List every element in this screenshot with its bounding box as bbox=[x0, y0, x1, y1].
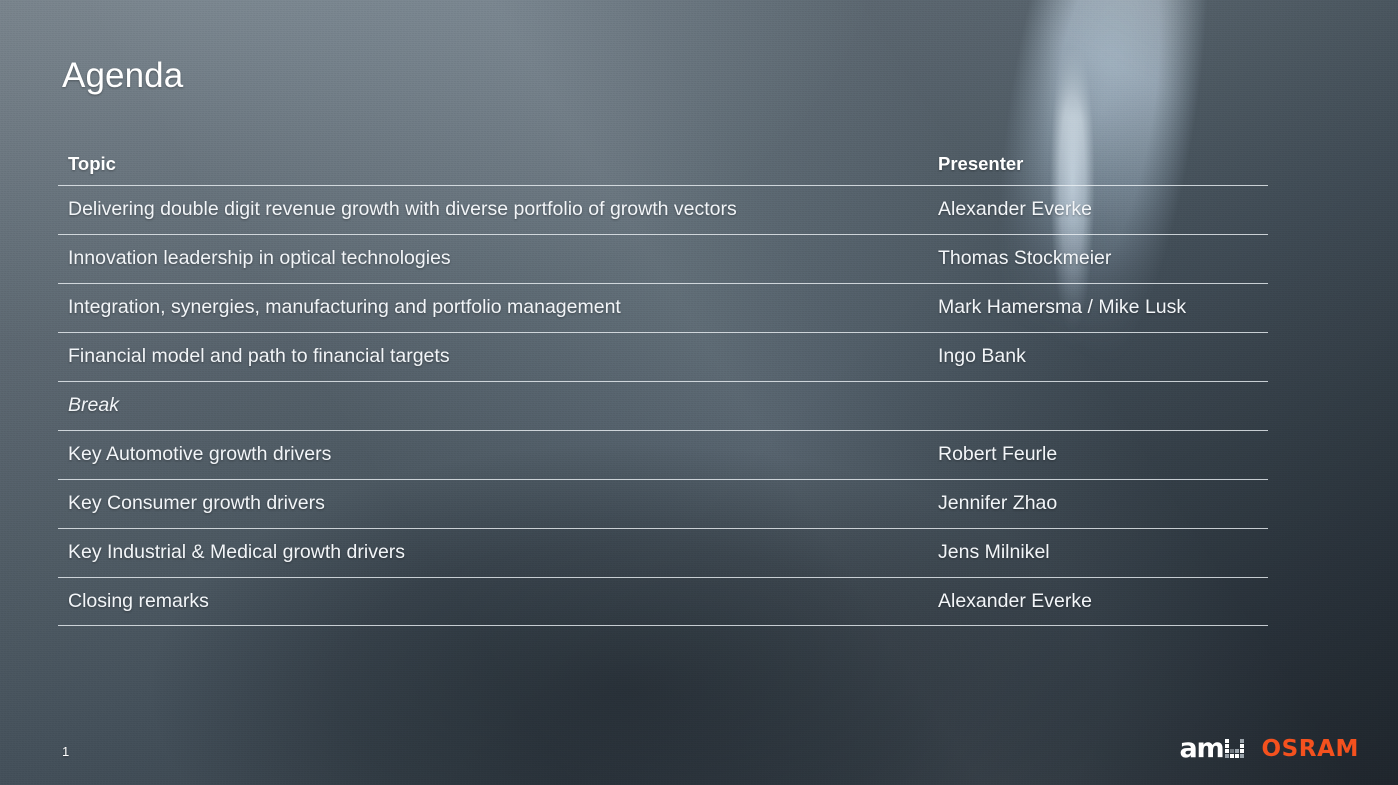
osram-wordmark: OSRAM bbox=[1261, 738, 1359, 761]
table-row: Integration, synergies, manufacturing an… bbox=[58, 283, 1268, 332]
row-presenter: Jens Milnikel bbox=[928, 541, 1258, 564]
table-row: Financial model and path to financial ta… bbox=[58, 332, 1268, 381]
pixel-block-icon bbox=[1225, 739, 1244, 758]
slide-content: Agenda Topic Presenter Delivering double… bbox=[0, 0, 1398, 785]
ams-logo: am bbox=[1180, 739, 1245, 759]
table-header-row: Topic Presenter bbox=[58, 143, 1268, 185]
row-topic: Innovation leadership in optical technol… bbox=[58, 247, 928, 270]
ams-wordmark: am bbox=[1180, 739, 1224, 759]
agenda-table: Topic Presenter Delivering double digit … bbox=[58, 143, 1268, 626]
row-topic: Delivering double digit revenue growth w… bbox=[58, 198, 928, 221]
column-header-presenter: Presenter bbox=[928, 153, 1258, 175]
row-presenter: Ingo Bank bbox=[928, 345, 1258, 368]
table-row: Closing remarks Alexander Everke bbox=[58, 577, 1268, 626]
table-row: Delivering double digit revenue growth w… bbox=[58, 185, 1268, 234]
row-presenter: Mark Hamersma / Mike Lusk bbox=[928, 296, 1258, 319]
row-topic: Closing remarks bbox=[58, 590, 928, 613]
row-presenter: Jennifer Zhao bbox=[928, 492, 1258, 515]
row-topic: Key Industrial & Medical growth drivers bbox=[58, 541, 928, 564]
row-presenter: Alexander Everke bbox=[928, 590, 1258, 613]
table-row: Innovation leadership in optical technol… bbox=[58, 234, 1268, 283]
table-row: Key Consumer growth drivers Jennifer Zha… bbox=[58, 479, 1268, 528]
row-topic: Key Automotive growth drivers bbox=[58, 443, 928, 466]
row-topic: Key Consumer growth drivers bbox=[58, 492, 928, 515]
page-title: Agenda bbox=[62, 57, 183, 96]
column-header-topic: Topic bbox=[58, 153, 928, 175]
table-row: Key Industrial & Medical growth drivers … bbox=[58, 528, 1268, 577]
row-topic: Financial model and path to financial ta… bbox=[58, 345, 928, 368]
page-number: 1 bbox=[62, 744, 69, 759]
slide: Agenda Topic Presenter Delivering double… bbox=[0, 0, 1398, 785]
row-presenter: Robert Feurle bbox=[928, 443, 1258, 466]
row-presenter: Alexander Everke bbox=[928, 198, 1258, 221]
table-row: Key Automotive growth drivers Robert Feu… bbox=[58, 430, 1268, 479]
logo-lockup: am OSRAM bbox=[1180, 735, 1359, 763]
row-presenter: Thomas Stockmeier bbox=[928, 247, 1258, 270]
row-topic: Break bbox=[58, 394, 928, 417]
table-row-break: Break bbox=[58, 381, 1268, 430]
row-topic: Integration, synergies, manufacturing an… bbox=[58, 296, 928, 319]
